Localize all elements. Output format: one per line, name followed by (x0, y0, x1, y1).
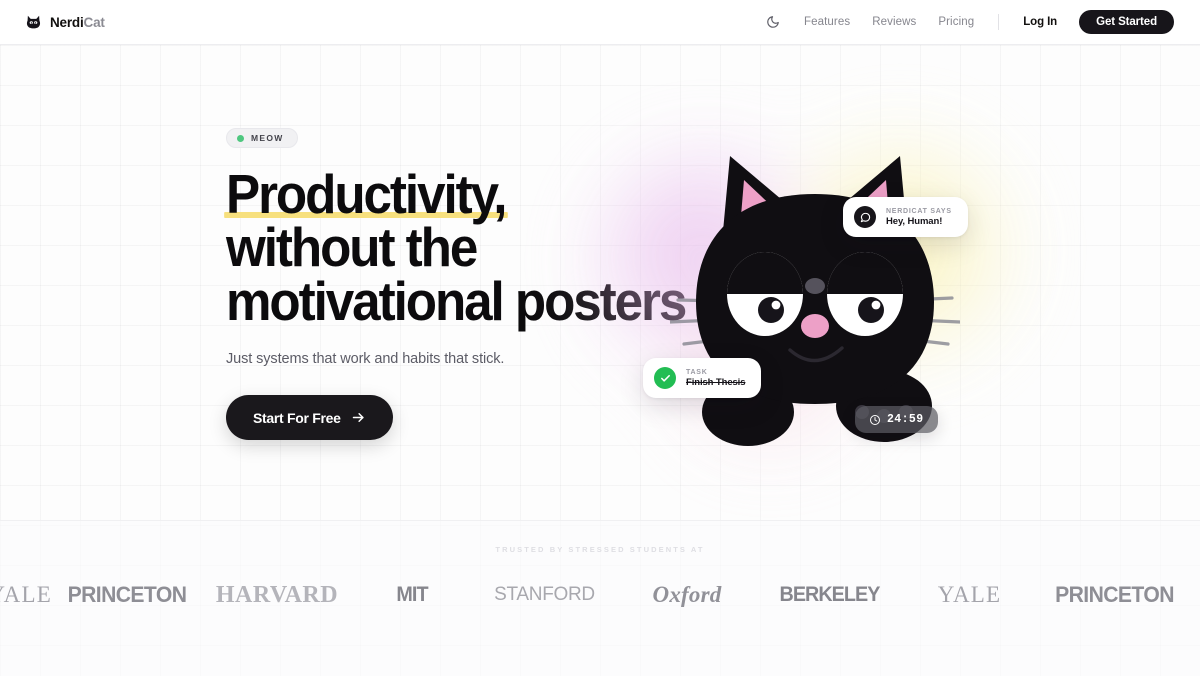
university-logo: BERKELEY (761, 583, 897, 607)
status-dot-icon (237, 135, 244, 142)
university-logo: MIT (356, 583, 469, 607)
says-card-kicker: NERDICAT SAYS (886, 208, 952, 215)
landing-page: NerdiCat Features Reviews Pricing Log In… (0, 0, 1200, 676)
start-button-label: Start For Free (253, 410, 341, 426)
headline-line-3: motivational posters (226, 275, 617, 328)
brand-name-light: Cat (84, 15, 105, 30)
cat-head-icon (26, 15, 41, 29)
site-header: NerdiCat Features Reviews Pricing Log In… (0, 0, 1200, 45)
says-card-title: Hey, Human! (886, 216, 952, 227)
mascot-illustration (575, 95, 1045, 475)
hero-section: MEOW Productivity, without the motivatio… (0, 45, 1200, 520)
meow-badge[interactable]: MEOW (226, 128, 298, 148)
timer-value: 24:59 (887, 413, 924, 426)
pomodoro-timer-badge[interactable]: 24:59 (855, 406, 938, 433)
nav-link-reviews[interactable]: Reviews (872, 16, 916, 28)
headline-highlight: Productivity, (226, 168, 505, 221)
brand-name: NerdiCat (50, 15, 105, 30)
task-card-title: Finish Thesis (686, 377, 745, 388)
nav-link-features[interactable]: Features (804, 16, 850, 28)
university-logo: PRINCETON (55, 582, 199, 608)
brand-logo[interactable]: NerdiCat (26, 15, 105, 30)
get-started-button[interactable]: Get Started (1079, 10, 1174, 34)
nav-link-pricing[interactable]: Pricing (938, 16, 974, 28)
university-logo: HARVARD (202, 582, 352, 609)
task-card-text: TASK Finish Thesis (686, 369, 745, 388)
task-card[interactable]: TASK Finish Thesis (643, 358, 761, 398)
badge-label: MEOW (251, 133, 284, 143)
chat-bubble-icon (854, 206, 876, 228)
trusted-by-section: TRUSTED BY STRESSED STUDENTS AT YALEPRIN… (0, 520, 1200, 676)
headline-line-2: without the (226, 221, 617, 274)
nav-divider (998, 14, 999, 30)
university-logo-marquee: YALEPRINCETONHARVARDMITSTANFORDOxfordBER… (0, 571, 1200, 619)
moon-icon[interactable] (764, 13, 782, 31)
check-circle-icon (654, 367, 676, 389)
university-logo: YALE (902, 582, 1037, 608)
trusted-by-label: TRUSTED BY STRESSED STUDENTS AT (0, 545, 1200, 554)
cat-mascot-icon (670, 150, 960, 450)
page-title: Productivity, without the motivational p… (226, 168, 617, 328)
task-card-kicker: TASK (686, 369, 745, 376)
clock-icon (869, 414, 881, 426)
university-logo: STANFORD (472, 584, 617, 606)
university-logo: Oxford (617, 582, 757, 608)
university-logo: PRINCETON (1040, 582, 1189, 608)
arrow-right-icon (351, 410, 366, 425)
university-logo: YALE (0, 582, 52, 608)
start-for-free-button[interactable]: Start For Free (226, 395, 393, 440)
main-nav: Features Reviews Pricing Log In Get Star… (764, 10, 1174, 34)
login-link[interactable]: Log In (1023, 16, 1057, 28)
says-card-text: NERDICAT SAYS Hey, Human! (886, 208, 952, 227)
headline-line-1: Productivity, (226, 168, 617, 221)
nerdicat-says-card[interactable]: NERDICAT SAYS Hey, Human! (843, 197, 968, 237)
university-logo: HARVARD (1192, 582, 1200, 609)
brand-name-bold: Nerdi (50, 15, 84, 30)
